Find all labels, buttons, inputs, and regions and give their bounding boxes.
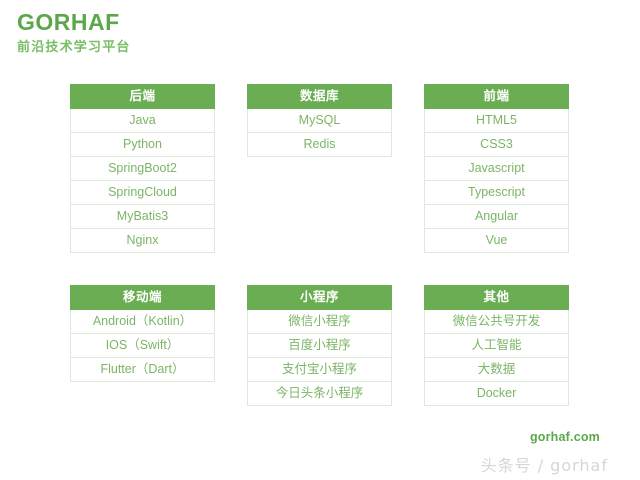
category-header-other: 其他 — [425, 286, 569, 310]
category-table-mobile: 移动端 Android（Kotlin） IOS（Swift） Flutter（D… — [70, 285, 215, 382]
category-column-other: 其他 微信公共号开发 人工智能 大数据 Docker — [424, 285, 569, 406]
category-table-frontend: 前端 HTML5 CSS3 Javascript Typescript Angu… — [424, 84, 569, 253]
footer-website-url[interactable]: gorhaf.com — [530, 430, 600, 444]
list-item[interactable]: IOS（Swift） — [71, 334, 215, 358]
list-item[interactable]: 支付宝小程序 — [248, 358, 392, 382]
list-item[interactable]: SpringBoot2 — [71, 157, 215, 181]
list-item[interactable]: 人工智能 — [425, 334, 569, 358]
list-item[interactable]: Typescript — [425, 181, 569, 205]
brand-logo: GORHAF 前沿技术学习平台 — [17, 10, 217, 55]
list-item[interactable]: MyBatis3 — [71, 205, 215, 229]
list-item[interactable]: Angular — [425, 205, 569, 229]
list-item[interactable]: Vue — [425, 229, 569, 253]
brand-subtitle: 前沿技术学习平台 — [17, 36, 217, 55]
list-item[interactable]: MySQL — [248, 109, 392, 133]
category-table-other: 其他 微信公共号开发 人工智能 大数据 Docker — [424, 285, 569, 406]
category-column-database: 数据库 MySQL Redis — [247, 84, 392, 253]
list-item[interactable]: Redis — [248, 133, 392, 157]
category-table-backend: 后端 Java Python SpringBoot2 SpringCloud M… — [70, 84, 215, 253]
list-item[interactable]: 百度小程序 — [248, 334, 392, 358]
list-item[interactable]: Python — [71, 133, 215, 157]
list-item[interactable]: 微信小程序 — [248, 310, 392, 334]
list-item[interactable]: Java — [71, 109, 215, 133]
watermark-label: 头条号 / gorhaf — [481, 452, 608, 476]
category-header-frontend: 前端 — [425, 85, 569, 109]
list-item[interactable]: SpringCloud — [71, 181, 215, 205]
list-item[interactable]: Flutter（Dart） — [71, 358, 215, 382]
board-row-2: 移动端 Android（Kotlin） IOS（Swift） Flutter（D… — [70, 285, 570, 406]
list-item[interactable]: 大数据 — [425, 358, 569, 382]
category-column-backend: 后端 Java Python SpringBoot2 SpringCloud M… — [70, 84, 215, 253]
list-item[interactable]: Android（Kotlin） — [71, 310, 215, 334]
list-item[interactable]: HTML5 — [425, 109, 569, 133]
list-item[interactable]: CSS3 — [425, 133, 569, 157]
list-item[interactable]: Nginx — [71, 229, 215, 253]
brand-title: GORHAF — [17, 10, 217, 34]
board-row-1: 后端 Java Python SpringBoot2 SpringCloud M… — [70, 84, 570, 253]
category-column-miniprogram: 小程序 微信小程序 百度小程序 支付宝小程序 今日头条小程序 — [247, 285, 392, 406]
category-table-miniprogram: 小程序 微信小程序 百度小程序 支付宝小程序 今日头条小程序 — [247, 285, 392, 406]
category-column-mobile: 移动端 Android（Kotlin） IOS（Swift） Flutter（D… — [70, 285, 215, 406]
category-table-database: 数据库 MySQL Redis — [247, 84, 392, 157]
category-header-database: 数据库 — [248, 85, 392, 109]
category-header-backend: 后端 — [71, 85, 215, 109]
list-item[interactable]: Docker — [425, 382, 569, 406]
category-header-miniprogram: 小程序 — [248, 286, 392, 310]
list-item[interactable]: 今日头条小程序 — [248, 382, 392, 406]
category-header-mobile: 移动端 — [71, 286, 215, 310]
category-board: 后端 Java Python SpringBoot2 SpringCloud M… — [70, 84, 570, 406]
category-column-frontend: 前端 HTML5 CSS3 Javascript Typescript Angu… — [424, 84, 569, 253]
list-item[interactable]: 微信公共号开发 — [425, 310, 569, 334]
list-item[interactable]: Javascript — [425, 157, 569, 181]
